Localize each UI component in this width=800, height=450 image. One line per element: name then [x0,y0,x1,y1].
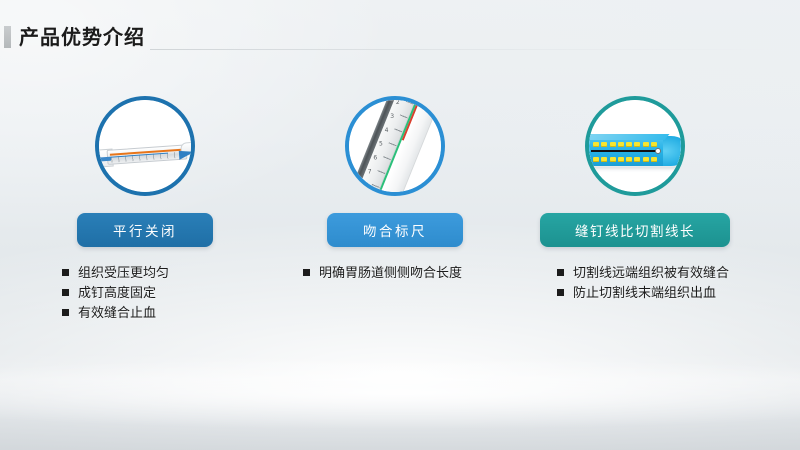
cut-line-endpoint [655,148,661,154]
feature-label-pill[interactable]: 吻合标尺 [327,213,463,247]
feature-bullets-staple-line: 切割线远端组织被有效缝合 防止切割线末端组织出血 [557,266,729,306]
scale-number: 2 [396,100,412,106]
staple-row-upper [593,141,657,148]
bullet-item: 成钉高度固定 [62,286,169,301]
feature-bullets-anastomosis-scale: 明确胃肠道侧侧吻合长度 [303,266,462,286]
square-bullet-icon [557,289,564,296]
bullet-text: 防止切割线末端组织出血 [573,286,716,301]
staple [651,142,657,147]
bullet-item: 明确胃肠道侧侧吻合长度 [303,266,462,281]
feature-row: 平行关闭 2 3 4 5 6 7 [0,96,800,256]
bullet-text: 有效缝合止血 [78,306,156,321]
linear-stapler-icon [99,140,191,170]
stapled-tissue-icon [589,134,681,168]
feature-card-staple-line[interactable]: 缝钉线比切割线长 [525,96,745,256]
staple [601,157,607,162]
square-bullet-icon [557,269,564,276]
stapler-blue-wedge [179,150,191,160]
bullet-item: 切割线远端组织被有效缝合 [557,266,729,281]
tissue-illustration [589,100,681,192]
scale-number: 3 [390,114,406,120]
staple [601,142,607,147]
staple [618,157,624,162]
staple [651,157,657,162]
bullet-text: 组织受压更均匀 [78,266,169,281]
page-title-text: 产品优势介绍 [19,27,145,47]
cut-line [591,150,657,152]
staple [593,157,599,162]
stapler-blue-chip [100,156,111,161]
staple [610,142,616,147]
staple [643,142,649,147]
feature-label-pill[interactable]: 缝钉线比切割线长 [540,213,730,247]
tissue-top-face [589,134,670,140]
bullet-text: 成钉高度固定 [78,286,156,301]
scale-photo: 2 3 4 5 6 7 8 [349,100,441,192]
feature-label-pill[interactable]: 平行关闭 [77,213,213,247]
scale-number: 8 [362,183,378,189]
staple [634,142,640,147]
scale-number: 4 [385,128,401,134]
scale-number: 7 [368,170,384,176]
square-bullet-icon [303,269,310,276]
bullet-item: 组织受压更均匀 [62,266,169,281]
title-divider [150,49,790,50]
bullet-item: 防止切割线末端组织出血 [557,286,729,301]
square-bullet-icon [62,309,69,316]
title-accent-bar [4,26,11,48]
staple [643,157,649,162]
tissue-shadow [589,166,677,171]
feature-card-parallel-closure[interactable]: 平行关闭 [35,96,255,256]
square-bullet-icon [62,269,69,276]
measuring-scale-icon: 2 3 4 5 6 7 8 [349,100,441,192]
floor-reflection [0,352,800,450]
staple [593,142,599,147]
feature-card-anastomosis-scale[interactable]: 2 3 4 5 6 7 8 吻合标尺 [285,96,505,256]
feature-bullets-parallel-closure: 组织受压更均匀 成钉高度固定 有效缝合止血 [62,266,169,326]
feature-image-circle [585,96,685,196]
staple [610,157,616,162]
bullet-text: 明确胃肠道侧侧吻合长度 [319,266,462,281]
scale-number: 5 [379,142,395,148]
feature-image-circle [95,96,195,196]
staple [626,142,632,147]
staple-row-lower [593,156,657,163]
feature-image-circle: 2 3 4 5 6 7 8 [345,96,445,196]
square-bullet-icon [62,289,69,296]
scale-number: 6 [373,156,389,162]
staple [626,157,632,162]
staple [634,157,640,162]
bullet-item: 有效缝合止血 [62,306,169,321]
page-title: 产品优势介绍 [4,26,145,48]
staple [618,142,624,147]
stapler-photo [99,100,191,192]
bullet-text: 切割线远端组织被有效缝合 [573,266,729,281]
slide-canvas: 产品优势介绍 [0,0,800,450]
